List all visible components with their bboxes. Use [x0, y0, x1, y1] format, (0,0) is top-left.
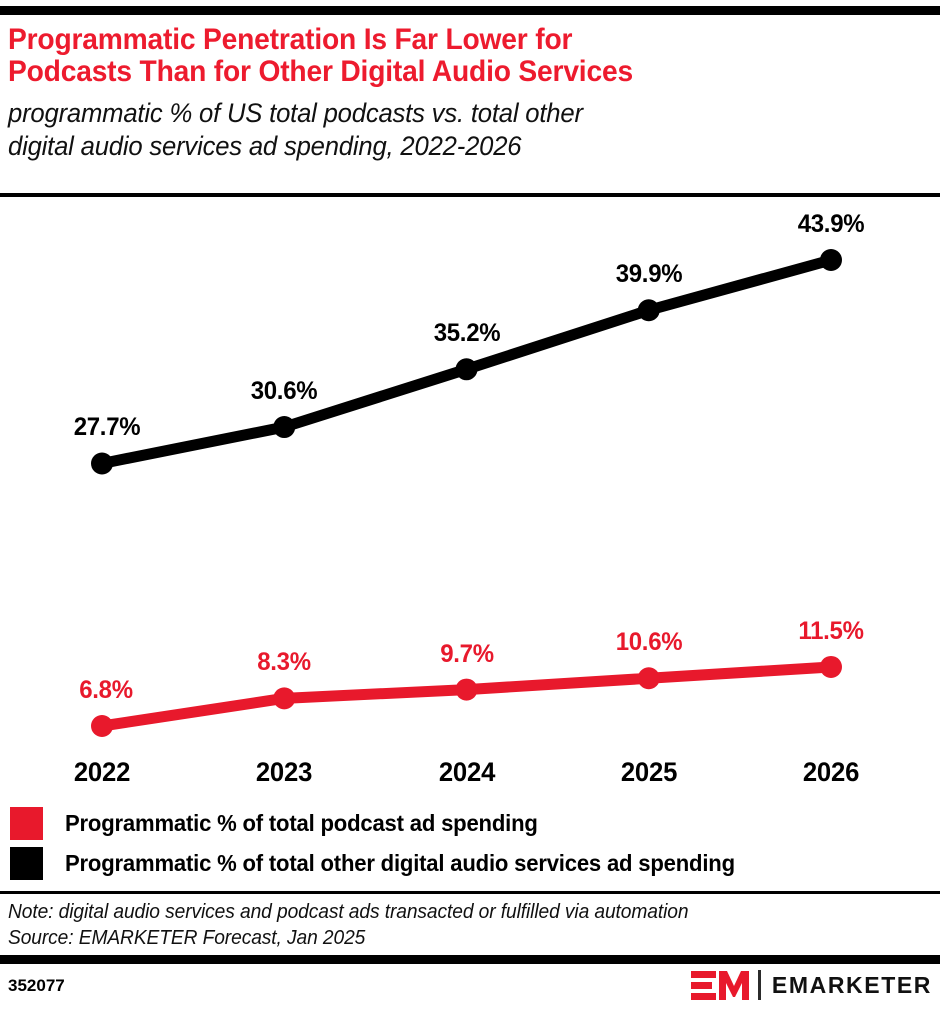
page-subtitle: programmatic % of US total podcasts vs. … [8, 97, 886, 163]
note-text: Note: digital audio services and podcast… [8, 899, 895, 925]
brand-wordmark: EMARKETER [772, 973, 932, 997]
data-label-other-digital-audio: 30.6% [251, 379, 318, 404]
data-point [820, 249, 842, 271]
data-point [456, 358, 478, 380]
chart-plot-area: 27.7%30.6%35.2%39.9%43.9%6.8%8.3%9.7%10.… [0, 197, 940, 757]
data-label-podcast: 10.6% [615, 630, 682, 655]
data-point [91, 452, 113, 474]
x-axis-tick-2022: 2022 [74, 757, 130, 787]
data-label-other-digital-audio: 35.2% [433, 321, 500, 346]
notes-divider [0, 891, 940, 894]
data-label-podcast: 9.7% [440, 642, 494, 667]
data-label-other-digital-audio: 39.9% [615, 262, 682, 287]
data-label-podcast: 11.5% [798, 619, 863, 644]
legend-label-other-digital-audio: Programmatic % of total other digital au… [65, 851, 735, 876]
chart-id-label: 352077 [8, 976, 65, 996]
emarketer-logo-icon [691, 970, 749, 1001]
page-title: Programmatic Penetration Is Far Lower fo… [8, 24, 877, 88]
legend-item-other-digital-audio: Programmatic % of total other digital au… [0, 843, 940, 883]
data-point [820, 656, 842, 678]
data-point [638, 299, 660, 321]
chart-page: Programmatic Penetration Is Far Lower fo… [0, 0, 940, 1014]
x-axis-tick-labels: 20222023202420252026 [0, 757, 940, 797]
source-text: Source: EMARKETER Forecast, Jan 2025 [8, 925, 895, 951]
data-point [273, 416, 295, 438]
data-point [456, 679, 478, 701]
legend-item-podcast: Programmatic % of total podcast ad spend… [0, 803, 940, 843]
x-axis-tick-2023: 2023 [256, 757, 312, 787]
x-axis-tick-2025: 2025 [621, 757, 677, 787]
legend-swatch-other-digital-audio [10, 847, 43, 880]
top-rule-divider [0, 6, 940, 15]
data-label-podcast: 8.3% [257, 650, 311, 675]
chart-header: Programmatic Penetration Is Far Lower fo… [8, 24, 932, 163]
data-label-other-digital-audio: 43.9% [798, 212, 865, 237]
chart-notes: Note: digital audio services and podcast… [8, 899, 932, 951]
data-point [638, 667, 660, 689]
legend-label-podcast: Programmatic % of total podcast ad spend… [65, 811, 538, 836]
brand-divider [758, 970, 761, 1000]
x-axis-tick-2024: 2024 [438, 757, 494, 787]
emarketer-brand: EMARKETER [691, 968, 932, 1002]
x-axis-tick-2026: 2026 [803, 757, 859, 787]
legend-swatch-podcast [10, 807, 43, 840]
chart-legend: Programmatic % of total podcast ad spend… [0, 803, 940, 883]
data-point [273, 687, 295, 709]
line-chart-svg [0, 197, 940, 757]
data-label-other-digital-audio: 27.7% [74, 415, 141, 440]
footer-divider [0, 955, 940, 964]
data-label-podcast: 6.8% [79, 678, 133, 703]
data-point [91, 715, 113, 737]
